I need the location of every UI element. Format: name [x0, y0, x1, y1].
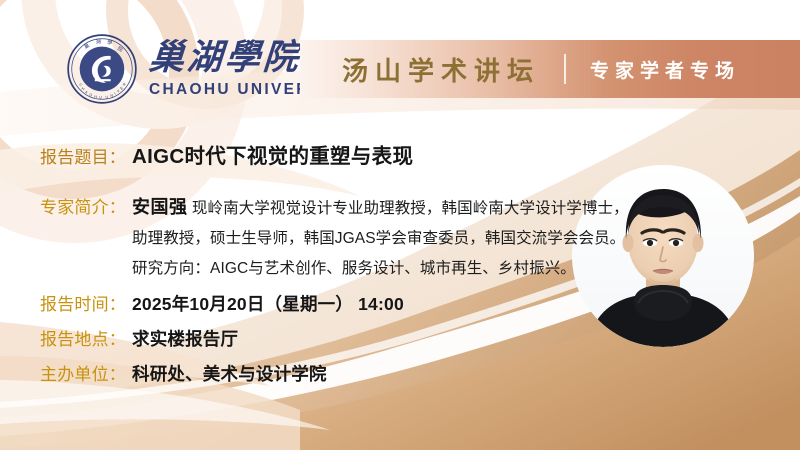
speaker-bio-text-1: 现岭南大学视觉设计专业助理教授，韩国岭南大学设计学博士， — [188, 200, 629, 217]
poster-root: 巢 湖 學 院 C H A O H U U N I V E R — [0, 0, 800, 450]
report-place-row: 报告地点： 求实楼报告厅 — [40, 325, 238, 351]
speaker-name: 安国强 — [132, 197, 188, 217]
report-time-value: 2025年10月20日（星期一） 14:00 — [132, 291, 404, 316]
report-host-label: 主办单位： — [40, 360, 126, 385]
speaker-bio-line-1: 安国强 现岭南大学视觉设计专业助理教授，韩国岭南大学设计学博士， — [132, 192, 629, 224]
report-title-row: 报告题目： AIGC时代下视觉的重塑与表现 — [40, 139, 413, 169]
speaker-bio-text-2: 助理教授，硕士生导师，韩国JGAS学会审查委员，韩国交流学会会员。 — [132, 230, 625, 247]
report-place-value: 求实楼报告厅 — [132, 326, 238, 351]
report-place-label: 报告地点： — [40, 325, 126, 350]
report-time-label: 报告时间： — [40, 290, 126, 315]
speaker-bio-row: 专家简介： 安国强 现岭南大学视觉设计专业助理教授，韩国岭南大学设计学博士， 助… — [40, 192, 629, 284]
speaker-bio-line-2: 助理教授，硕士生导师，韩国JGAS学会审查委员，韩国交流学会会员。 — [132, 224, 629, 254]
poster-content: 报告题目： AIGC时代下视觉的重塑与表现 专家简介： 安国强 现岭南大学视觉设… — [0, 0, 800, 450]
speaker-bio-text-3: 研究方向：AIGC与艺术创作、服务设计、城市再生、乡村振兴。 — [132, 260, 576, 277]
report-time-row: 报告时间： 2025年10月20日（星期一） 14:00 — [40, 290, 404, 316]
report-title-label: 报告题目： — [40, 143, 126, 168]
speaker-bio-label: 专家简介： — [40, 193, 126, 218]
speaker-bio-line-3: 研究方向：AIGC与艺术创作、服务设计、城市再生、乡村振兴。 — [132, 254, 629, 284]
report-title-value: AIGC时代下视觉的重塑与表现 — [132, 139, 413, 169]
report-host-row: 主办单位： 科研处、美术与设计学院 — [40, 360, 327, 386]
report-host-value: 科研处、美术与设计学院 — [132, 361, 327, 386]
speaker-bio-body: 安国强 现岭南大学视觉设计专业助理教授，韩国岭南大学设计学博士， 助理教授，硕士… — [132, 192, 629, 284]
